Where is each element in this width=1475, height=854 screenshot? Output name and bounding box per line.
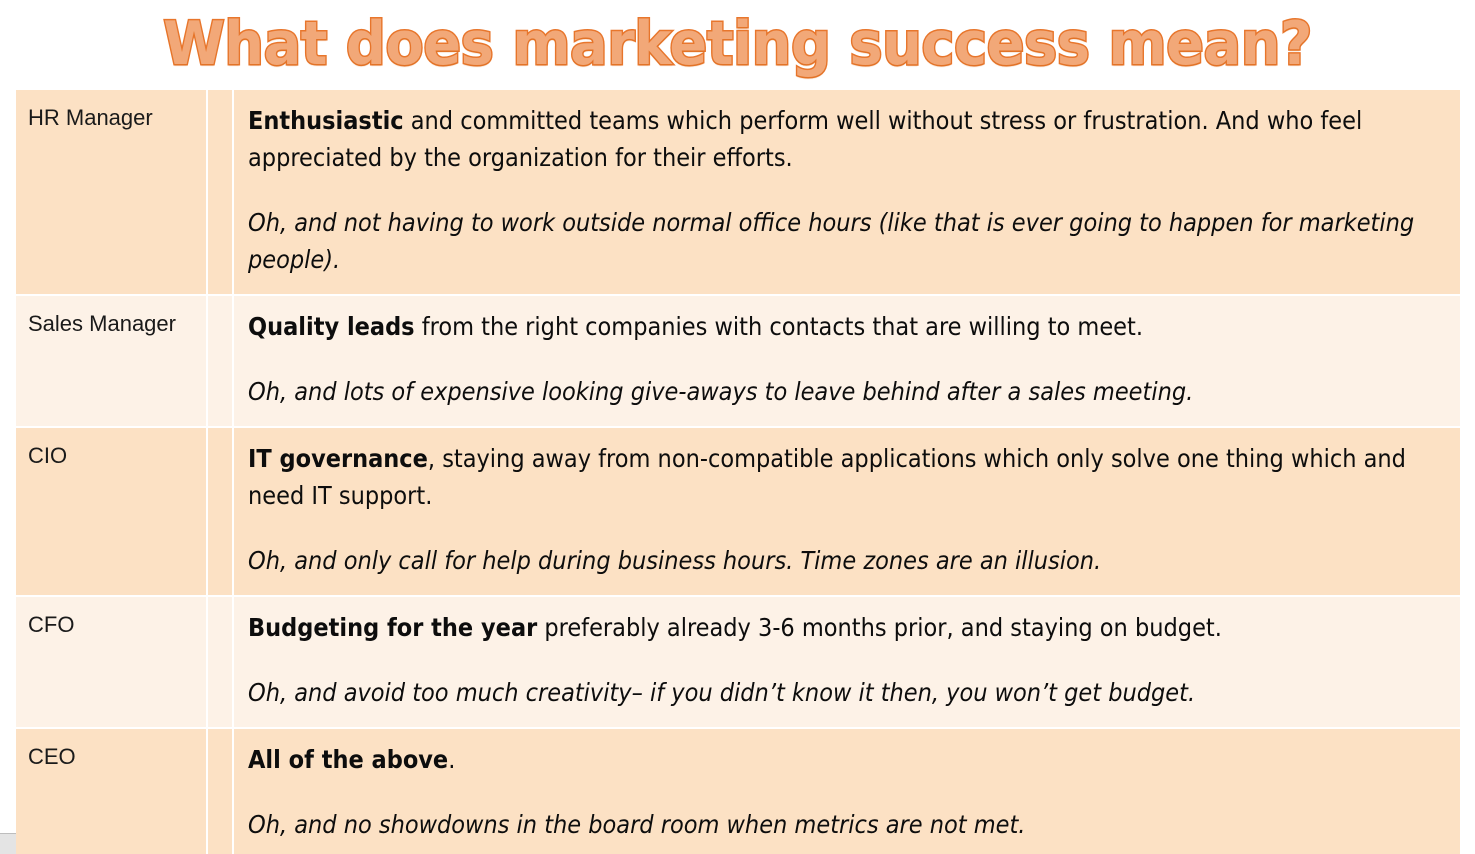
detail-aside: Oh, and only call for help during busine… — [248, 542, 1446, 579]
detail-cell: Quality leads from the right companies w… — [234, 296, 1460, 428]
detail-aside: Oh, and avoid too much creativity– if yo… — [248, 674, 1446, 711]
role-label: HR Manager — [28, 105, 153, 130]
table-body: HR Manager Enthusiastic and committed te… — [16, 90, 1460, 854]
detail-aside: Oh, and not having to work outside norma… — [248, 204, 1446, 278]
spacer-cell — [208, 729, 234, 854]
detail-primary: Enthusiastic and committed teams which p… — [248, 102, 1446, 176]
detail-primary-rest: from the right companies with contacts t… — [415, 312, 1143, 341]
table-row: CEO All of the above. Oh, and no showdow… — [16, 729, 1460, 854]
role-label: Sales Manager — [28, 311, 176, 336]
detail-cell: Enthusiastic and committed teams which p… — [234, 90, 1460, 296]
table-row: Sales Manager Quality leads from the rig… — [16, 296, 1460, 428]
detail-cell: IT governance, staying away from non-com… — [234, 428, 1460, 597]
detail-primary-rest: . — [448, 745, 455, 774]
page-title: What does marketing success mean? — [163, 14, 1312, 74]
role-cell: CEO — [16, 729, 208, 854]
role-cell: CIO — [16, 428, 208, 597]
role-cell: Sales Manager — [16, 296, 208, 428]
detail-aside: Oh, and no showdowns in the board room w… — [248, 806, 1446, 843]
role-label: CIO — [28, 443, 67, 468]
detail-lead: All of the above — [248, 745, 448, 774]
detail-cell: Budgeting for the year preferably alread… — [234, 597, 1460, 729]
detail-lead: Enthusiastic — [248, 106, 404, 135]
detail-primary-rest: and committed teams which perform well w… — [248, 106, 1362, 172]
role-label: CFO — [28, 612, 74, 637]
detail-primary: Budgeting for the year preferably alread… — [248, 609, 1446, 646]
detail-cell: All of the above. Oh, and no showdowns i… — [234, 729, 1460, 854]
role-cell: HR Manager — [16, 90, 208, 296]
corner-artifact — [0, 833, 16, 854]
title-container: What does marketing success mean? — [0, 2, 1475, 86]
detail-primary: All of the above. — [248, 741, 1446, 778]
role-label: CEO — [28, 744, 76, 769]
slide-canvas: What does marketing success mean? HR Man… — [0, 0, 1475, 854]
spacer-cell — [208, 428, 234, 597]
role-cell: CFO — [16, 597, 208, 729]
detail-lead: Budgeting for the year — [248, 613, 537, 642]
detail-lead: Quality leads — [248, 312, 415, 341]
table-row: CIO IT governance, staying away from non… — [16, 428, 1460, 597]
spacer-cell — [208, 597, 234, 729]
detail-primary: Quality leads from the right companies w… — [248, 308, 1446, 345]
detail-lead: IT governance — [248, 444, 428, 473]
marketing-success-table: HR Manager Enthusiastic and committed te… — [16, 90, 1460, 854]
table-row: HR Manager Enthusiastic and committed te… — [16, 90, 1460, 296]
spacer-cell — [208, 90, 234, 296]
detail-aside: Oh, and lots of expensive looking give-a… — [248, 373, 1446, 410]
table-row: CFO Budgeting for the year preferably al… — [16, 597, 1460, 729]
spacer-cell — [208, 296, 234, 428]
detail-primary: IT governance, staying away from non-com… — [248, 440, 1446, 514]
detail-primary-rest: preferably already 3-6 months prior, and… — [537, 613, 1222, 642]
